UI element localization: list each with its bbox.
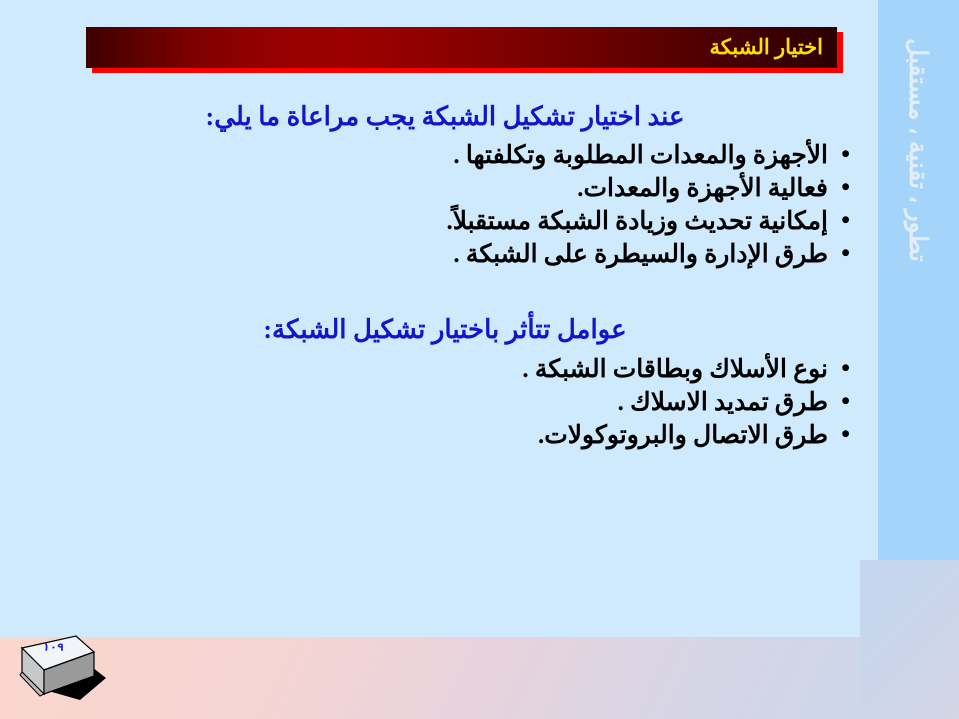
section-heading: عوامل تتأثر باختيار تشكيل الشبكة:	[40, 313, 850, 346]
keycap-graphic: ١٠٩	[10, 628, 145, 713]
sidebar-caption-text: تطور ، تقنية ، مستقبل	[904, 38, 934, 262]
list-item: إمكانية تحديث وزيادة الشبكة مستقبلاً.	[63, 205, 850, 238]
footer-corner-wedge	[860, 560, 959, 719]
list-item: نوع الأسلاك وبطاقات الشبكة .	[63, 353, 850, 386]
bullet-list: الأجهزة والمعدات المطلوبة وتكلفتها . فعا…	[40, 139, 850, 271]
page-number: ١٠٩	[42, 640, 66, 653]
list-item: الأجهزة والمعدات المطلوبة وتكلفتها .	[63, 139, 850, 172]
keycap-icon	[10, 628, 145, 713]
page-title: اختيار الشبكة	[710, 37, 823, 58]
section-block: عند اختيار تشكيل الشبكة يجب مراعاة ما يل…	[40, 100, 850, 271]
section-heading: عند اختيار تشكيل الشبكة يجب مراعاة ما يل…	[40, 100, 850, 133]
sidebar-vertical-caption: تطور ، تقنية ، مستقبل	[878, 0, 959, 330]
section-spacer	[40, 271, 850, 313]
list-item: فعالية الأجهزة والمعدات.	[63, 172, 850, 205]
title-bar: اختيار الشبكة	[86, 27, 837, 68]
list-item: طرق تمديد الاسلاك .	[63, 386, 850, 419]
list-item: طرق الاتصال والبروتوكولات.	[63, 419, 850, 452]
section-block: عوامل تتأثر باختيار تشكيل الشبكة: نوع ال…	[40, 313, 850, 451]
bullet-list: نوع الأسلاك وبطاقات الشبكة . طرق تمديد ا…	[40, 353, 850, 452]
list-item: طرق الإدارة والسيطرة على الشبكة .	[63, 238, 850, 271]
slide-canvas: تطور ، تقنية ، مستقبل اختيار الشبكة عند …	[0, 0, 959, 719]
slide-content: عند اختيار تشكيل الشبكة يجب مراعاة ما يل…	[40, 100, 850, 452]
